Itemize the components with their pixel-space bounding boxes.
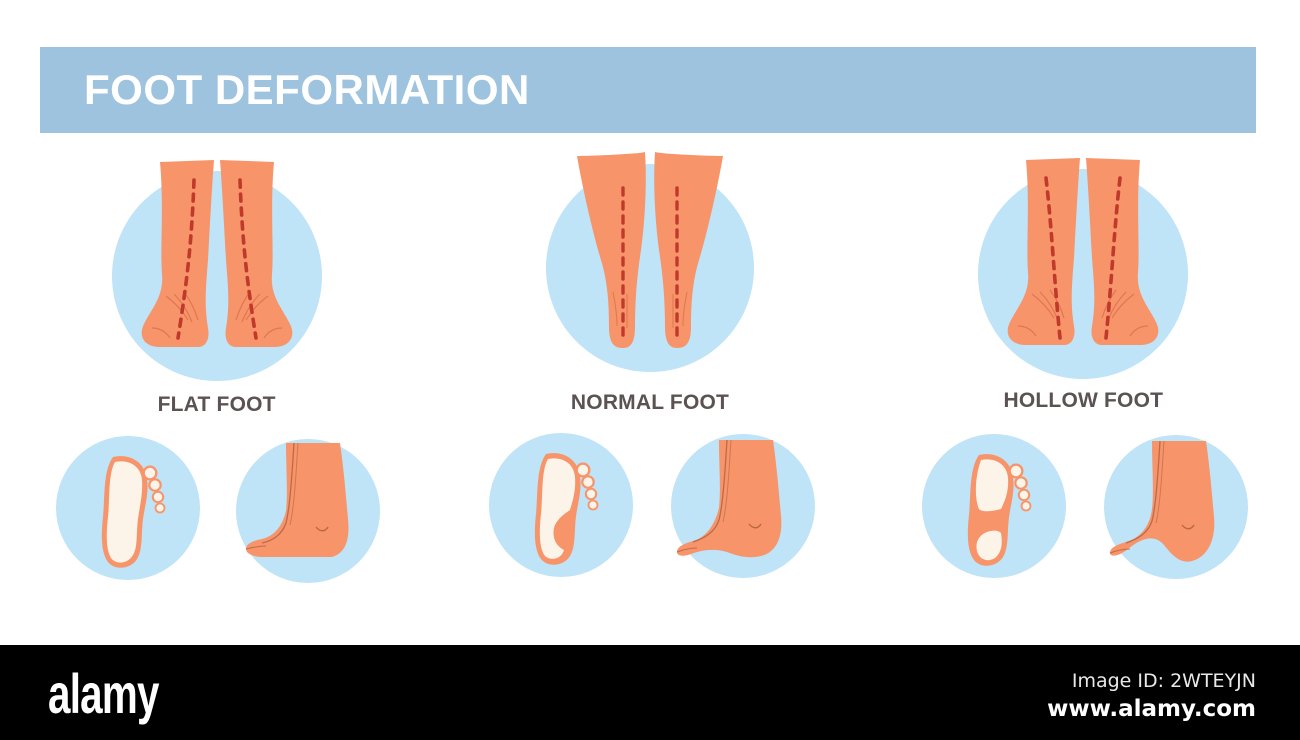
- normal-foot-detail-row: [433, 428, 866, 583]
- flat-foot-rear-view: [102, 156, 332, 386]
- infographic-canvas: FOOT DEFORMATION: [0, 0, 1300, 640]
- column-flat-foot: FLAT FOOT: [0, 150, 433, 620]
- hollow-foot-side-view: [1094, 429, 1249, 584]
- hollow-foot-rear-view: [968, 154, 1198, 384]
- normal-foot-sole-view: [484, 428, 639, 583]
- flat-foot-sole-view: [51, 431, 206, 586]
- column-hollow-foot: HOLLOW FOOT: [867, 150, 1300, 620]
- normal-foot-rear-view: [535, 150, 765, 380]
- flat-foot-side-view: [228, 431, 383, 586]
- label-flat-foot: FLAT FOOT: [0, 393, 433, 417]
- hollow-foot-detail-row: [867, 429, 1300, 584]
- foot-type-columns: FLAT FOOT: [0, 150, 1300, 620]
- title-banner: FOOT DEFORMATION: [40, 47, 1256, 133]
- flat-foot-detail-row: [0, 431, 433, 586]
- column-normal-foot: NORMAL FOOT: [433, 150, 866, 620]
- watermark-url: www.alamy.com: [1047, 695, 1256, 725]
- label-normal-foot: NORMAL FOOT: [433, 391, 866, 415]
- label-hollow-foot: HOLLOW FOOT: [867, 389, 1300, 413]
- watermark-image-id: Image ID: 2WTEYJN: [1047, 669, 1256, 695]
- alamy-logo: alamy: [48, 661, 159, 726]
- hollow-foot-sole-view: [917, 429, 1072, 584]
- watermark-bar: alamy Image ID: 2WTEYJN www.alamy.com: [0, 645, 1300, 740]
- normal-foot-side-view: [661, 428, 816, 583]
- page-title: FOOT DEFORMATION: [84, 66, 530, 114]
- watermark-info: Image ID: 2WTEYJN www.alamy.com: [1047, 669, 1256, 725]
